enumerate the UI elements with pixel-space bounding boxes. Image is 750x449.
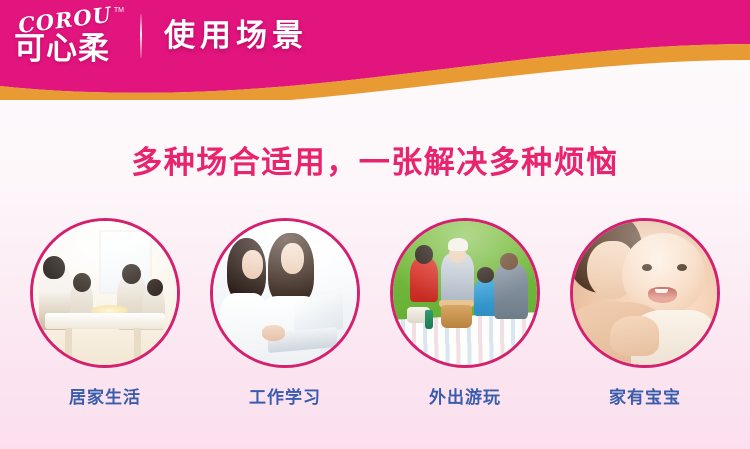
child-head-left — [73, 273, 90, 292]
photo-two-women-with-laptop — [213, 221, 357, 365]
header-title: 使用场景 — [164, 21, 308, 52]
scenario-caption-home: 居家生活 — [69, 390, 141, 407]
mother-head-outdoor — [500, 253, 519, 270]
child-head-right — [147, 279, 163, 296]
scenario-caption-baby: 家有宝宝 — [609, 390, 681, 407]
typing-hand — [262, 325, 285, 341]
scenario-caption-outdoor: 外出游玩 — [429, 390, 501, 407]
brand-logo: COROU TM 可心柔 — [14, 5, 122, 67]
father-cap — [448, 238, 468, 251]
scenario-photo-circle-baby — [570, 218, 720, 368]
photo-family-dining-at-home — [33, 221, 177, 365]
scenario-item-outdoor: 外出游玩 — [389, 218, 541, 407]
scenario-photo-circle-work — [210, 218, 360, 368]
scenario-caption-work: 工作学习 — [249, 390, 321, 407]
woman-left-face — [242, 250, 264, 279]
mother-figure-outdoor — [494, 264, 529, 319]
header-content: COROU TM 可心柔 使用场景 — [0, 0, 750, 72]
picnic-basket — [441, 305, 473, 328]
dining-table — [45, 313, 166, 329]
photo-mother-kissing-baby — [573, 221, 717, 365]
scenario-photo-circle-home — [30, 218, 180, 368]
trademark-symbol: TM — [114, 7, 124, 14]
scenario-item-home: 居家生活 — [29, 218, 181, 407]
baby-tooth — [655, 289, 668, 293]
photo-family-picnic-on-grass — [393, 221, 537, 365]
boy-in-red-shirt — [410, 258, 437, 301]
scenario-item-work: 工作学习 — [209, 218, 361, 407]
brand-name-chinese: 可心柔 — [14, 31, 122, 67]
table-leg-left — [65, 328, 72, 363]
drink-bottle — [425, 310, 434, 329]
child-blue-head — [477, 267, 494, 283]
father-head — [43, 256, 65, 279]
table-leg-right — [134, 328, 141, 363]
scenario-photo-circle-outdoor — [390, 218, 540, 368]
header-divider — [140, 14, 142, 58]
scenario-item-baby: 家有宝宝 — [569, 218, 721, 407]
woman-right-face — [281, 243, 304, 275]
promotional-banner: COROU TM 可心柔 使用场景 多种场合适用，一张解决多种烦恼 — [0, 0, 750, 449]
headline-text: 多种场合适用，一张解决多种烦恼 — [0, 145, 750, 182]
baby-arm — [610, 316, 659, 356]
banner-header: COROU TM 可心柔 使用场景 — [0, 0, 750, 100]
scenario-list: 居家生活 工作学习 — [0, 218, 750, 407]
